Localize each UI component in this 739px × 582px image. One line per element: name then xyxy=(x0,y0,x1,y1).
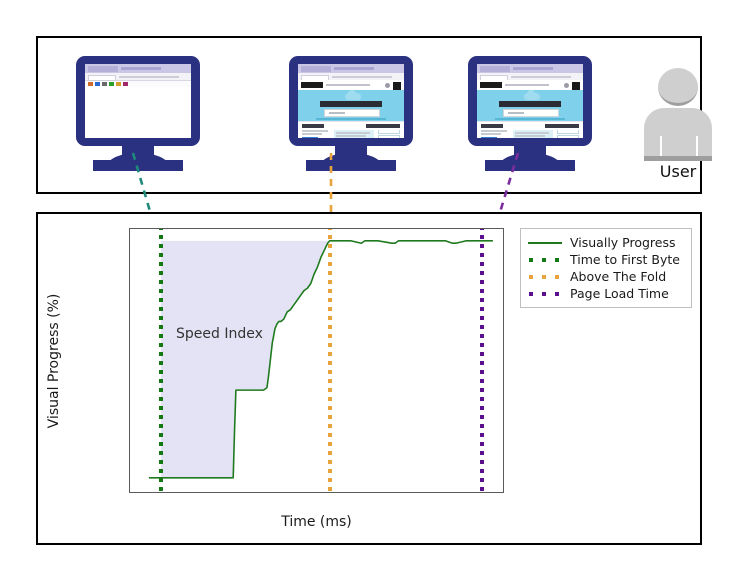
browser-chrome-bar xyxy=(85,64,191,73)
user-label: User xyxy=(636,162,720,181)
monitor-blank-page xyxy=(76,56,200,178)
plot-inner: 020406080100010002000300040005000 xyxy=(130,229,503,492)
bookmark-icon xyxy=(88,82,93,86)
hero-quick-links xyxy=(495,118,565,120)
monitor-bezel xyxy=(76,56,200,146)
cloud-icon xyxy=(345,93,361,100)
legend-item-time-to-first-byte[interactable]: Time to First Byte xyxy=(528,251,684,268)
legend-item-above-the-fold[interactable]: Above The Fold xyxy=(528,268,684,285)
y-axis-title: Visual Progress (%) xyxy=(46,294,62,429)
legend-label: Visually Progress xyxy=(570,235,676,250)
legend-item-page-load-time[interactable]: Page Load Time xyxy=(528,285,684,302)
search-placeholder-text xyxy=(329,112,345,114)
bookmark-icon xyxy=(95,82,100,86)
form-input xyxy=(378,135,400,138)
site-logo xyxy=(301,82,323,88)
monitor-above-the-fold xyxy=(289,56,413,178)
site-footer xyxy=(298,121,404,130)
person-head-icon xyxy=(658,68,698,106)
card-button xyxy=(481,137,497,138)
bookmark-icon xyxy=(102,82,107,86)
person-arm-left xyxy=(660,136,662,158)
content-cards xyxy=(477,122,583,130)
hero-title xyxy=(320,101,382,107)
card-text xyxy=(481,133,501,135)
search-placeholder-text xyxy=(508,112,524,114)
cloud-icon xyxy=(524,93,540,100)
browser-tab xyxy=(88,66,118,72)
monitor-bezel xyxy=(468,56,592,146)
browser-window-controls xyxy=(121,67,161,70)
speed-index-annotation: Speed Index xyxy=(176,326,263,342)
card-text xyxy=(481,130,507,132)
series-layer xyxy=(130,229,503,492)
content-cards xyxy=(298,122,404,130)
hero-quick-links xyxy=(316,118,386,120)
url-pill xyxy=(88,75,116,81)
legend-item-visually-progress[interactable]: Visually Progress xyxy=(528,234,684,251)
hero-section xyxy=(298,90,404,122)
bookmark-icon xyxy=(123,82,128,86)
monitor-fully-loaded xyxy=(468,56,592,178)
browser-filmstrip-panel: User xyxy=(36,36,702,194)
monitor-screen-blank xyxy=(85,64,191,138)
browser-tab xyxy=(301,66,331,72)
hero-title xyxy=(499,101,561,107)
site-nav-links xyxy=(326,84,370,86)
browser-chrome-bar xyxy=(477,64,583,73)
footer-right-text xyxy=(545,124,579,128)
monitor-base xyxy=(93,160,183,171)
hero-search-box xyxy=(324,109,380,117)
card-text xyxy=(302,133,322,135)
person-arm-right xyxy=(696,136,698,158)
browser-chrome-bar xyxy=(298,64,404,73)
card-button xyxy=(302,137,318,138)
monitor-bezel xyxy=(289,56,413,146)
site-logo xyxy=(480,82,502,88)
marker-line-above-the-fold xyxy=(328,229,332,492)
legend-swatch-dotted xyxy=(528,254,562,266)
chart-legend: Visually Progress Time to First Byte Abo… xyxy=(520,228,692,308)
legend-label: Time to First Byte xyxy=(570,252,680,267)
plot-area: 020406080100010002000300040005000 xyxy=(129,228,504,493)
site-footer xyxy=(477,121,583,130)
bookmark-icon xyxy=(109,82,114,86)
legend-label: Above The Fold xyxy=(570,269,666,284)
browser-window-controls xyxy=(334,67,374,70)
card-text xyxy=(515,132,549,134)
user-figure: User xyxy=(636,66,720,184)
monitor-base xyxy=(306,160,396,171)
browser-window-controls xyxy=(513,67,553,70)
visual-progress-chart-panel: Visual Progress (%) Time (ms) 0204060801… xyxy=(36,212,702,545)
x-axis-title: Time (ms) xyxy=(129,514,504,530)
form-input xyxy=(557,135,579,138)
footer-right-text xyxy=(366,124,400,128)
marker-line-page-load-time xyxy=(480,229,484,492)
blank-page-body xyxy=(85,87,191,138)
nav-menu-icon xyxy=(393,82,401,90)
bookmark-icon xyxy=(116,82,121,86)
card-text xyxy=(336,135,366,137)
monitor-screen-loaded xyxy=(298,64,404,138)
legend-swatch-dotted xyxy=(528,288,562,300)
url-text xyxy=(511,76,571,78)
nav-circle-icon xyxy=(564,83,569,88)
monitor-base xyxy=(485,160,575,171)
footer-left-text xyxy=(481,124,503,128)
person-base-bar xyxy=(644,156,712,161)
browser-url-bar xyxy=(85,73,191,81)
marker-line-time-to-first-byte xyxy=(159,229,163,492)
speed-index-fill-area xyxy=(161,241,330,478)
card-text xyxy=(515,135,545,137)
legend-swatch-solid xyxy=(528,237,562,249)
legend-label: Page Load Time xyxy=(570,286,669,301)
nav-circle-icon xyxy=(385,83,390,88)
nav-menu-icon xyxy=(572,82,580,90)
url-text xyxy=(332,76,392,78)
hero-search-box xyxy=(503,109,559,117)
card-text xyxy=(302,130,328,132)
site-nav-links xyxy=(505,84,549,86)
hero-section xyxy=(477,90,583,122)
card-text xyxy=(336,132,370,134)
footer-left-text xyxy=(302,124,324,128)
person-body-icon xyxy=(644,108,712,160)
legend-swatch-dotted xyxy=(528,271,562,283)
url-text xyxy=(119,76,179,78)
monitor-screen-loaded xyxy=(477,64,583,138)
browser-tab xyxy=(480,66,510,72)
